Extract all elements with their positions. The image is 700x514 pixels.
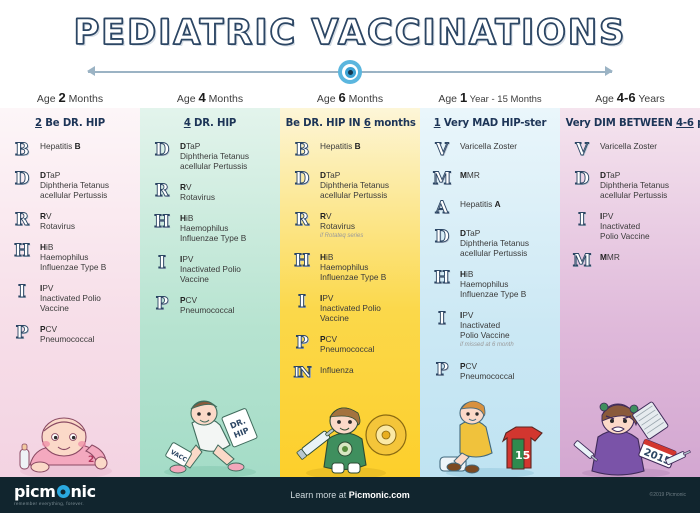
vaccine-name-line: Influenzae Type B — [460, 289, 526, 299]
vaccine-name-line: Hepatitis — [460, 199, 495, 209]
letter-m-icon: M — [570, 252, 594, 270]
letter-b-icon: B — [290, 141, 314, 159]
vaccine-abbr-rest: iB — [186, 213, 193, 223]
letter-r-icon: R — [150, 182, 174, 200]
vaccine-name-line: acellular Pertussis — [40, 190, 107, 200]
vaccine-entry: PPCVPneumococcal — [430, 361, 554, 381]
title-section: PEDIATRIC VACCINATIONS — [0, 0, 700, 58]
vaccine-abbr-rest: PV — [42, 283, 53, 293]
vaccine-name-line: Haemophilus — [320, 262, 368, 272]
age-number: 2 — [59, 90, 66, 105]
vaccine-text: IPVInactivated PolioVaccine — [180, 254, 241, 284]
age-column-2: 4 DR. HIPDDTaPDiphtheria Tetanusacellula… — [140, 108, 280, 477]
age-prefix: Age — [595, 93, 617, 105]
vaccine-name-line: Influenzae Type B — [320, 272, 386, 282]
letter-p-icon: P — [10, 324, 34, 342]
vaccine-text: RVRotavirus — [40, 211, 75, 231]
vaccine-entry: IIPVInactivated PolioVaccine — [290, 293, 414, 323]
vaccine-name-line: Pneumococcal — [180, 305, 234, 315]
age-header-row: Age 2 MonthsAge 4 MonthsAge 6 MonthsAge … — [0, 86, 700, 108]
illustration-2: DR. HIP VACC — [140, 387, 280, 477]
vaccine-text: Varicella Zoster — [460, 141, 517, 151]
mnemonic-heading-5: Very DIM BETWEEN 4-6 pm — [566, 116, 695, 129]
vaccine-name-line: Inactivated Polio — [40, 293, 101, 303]
vaccine-abbr-rest: TaP — [326, 170, 340, 180]
vaccine-abbr-rest: iB — [46, 242, 53, 252]
vaccine-text: DTaPDiphtheria Tetanusacellular Pertussi… — [320, 170, 389, 200]
age-column-3: Be DR. HIP IN 6 monthsBHepatitis BDDTaPD… — [280, 108, 420, 477]
vaccine-abbr-rest: TaP — [46, 170, 60, 180]
timeline-arrow-left-icon — [87, 66, 95, 76]
vaccine-text: RVRotavirusif Rotateq series — [320, 211, 363, 241]
vaccine-name-line: Pneumococcal — [40, 334, 94, 344]
vaccine-name-line: Hepatitis — [320, 141, 355, 151]
letter-v-icon: V — [430, 141, 454, 159]
svg-text:DR.: DR. — [229, 416, 247, 430]
vaccine-entry: HHiBHaemophilusInfluenzae Type B — [430, 269, 554, 299]
mnemonic-heading-3: Be DR. HIP IN 6 months — [286, 116, 415, 129]
age-number: 4-6 — [617, 90, 636, 105]
vaccine-abbr: M — [460, 170, 467, 180]
vaccine-name-line: Rotavirus — [180, 192, 215, 202]
age-column-1: 2 Be DR. HIPBHepatitis BDDTaPDiphtheria … — [0, 108, 140, 477]
vaccine-note: if missed at 6 month — [460, 340, 514, 350]
letter-m-icon: M — [430, 170, 454, 188]
vaccine-name-line: Varicella Zoster — [460, 141, 517, 151]
vaccine-entry: BHepatitis B — [290, 141, 414, 159]
vaccine-list-3: BHepatitis BDDTaPDiphtheria Tetanusacell… — [280, 141, 420, 380]
vaccine-name-line: Diphtheria Tetanus — [460, 238, 529, 248]
age-column-5: Very DIM BETWEEN 4-6 pmVVaricella Zoster… — [560, 108, 700, 477]
age-suffix: Years — [636, 93, 665, 105]
vaccine-text: HiBHaemophilusInfluenzae Type B — [320, 252, 386, 282]
letter-i-icon: I — [150, 254, 174, 272]
footer: picm nic remember everything, forever. L… — [0, 477, 700, 513]
age-prefix: Age — [317, 93, 339, 105]
vaccine-note: if Rotateq series — [320, 231, 363, 241]
vaccine-abbr-rest: MR — [467, 170, 480, 180]
vaccine-text: IPVInactivated PolioVaccine — [40, 283, 101, 313]
vaccine-name-line: acellular Pertussis — [600, 190, 667, 200]
vaccine-abbr-rest: PV — [462, 310, 473, 320]
vaccine-abbr-rest: TaP — [186, 141, 200, 151]
vaccine-text: IPVInactivated PolioVaccine — [320, 293, 381, 323]
vaccine-abbr-rest: PV — [182, 254, 193, 264]
vaccine-abbr-rest: TaP — [606, 170, 620, 180]
illustration-4: 15 — [420, 387, 560, 477]
age-number: 4 — [199, 90, 206, 105]
vaccine-list-5: VVaricella ZosterDDTaPDiphtheria Tetanus… — [560, 141, 700, 270]
vaccine-name-line: Inactivated — [600, 221, 640, 231]
vaccine-name-line: Diphtheria Tetanus — [600, 180, 669, 190]
letter-i-icon: I — [430, 310, 454, 328]
vaccine-name-line: Polio Vaccine — [600, 231, 650, 241]
vaccine-entry: MMMR — [430, 170, 554, 188]
vaccine-name-bold: A — [495, 199, 501, 209]
mnemonic-heading-1: 2 Be DR. HIP — [6, 116, 135, 129]
vaccine-text: Hepatitis A — [460, 199, 501, 209]
letter-h-icon: H — [10, 242, 34, 260]
footer-cta: Learn more at Picmonic.com — [0, 490, 700, 500]
letter-r-icon: R — [10, 211, 34, 229]
timeline-arrow-right-icon — [605, 66, 613, 76]
vaccine-list-2: DDTaPDiphtheria Tetanusacellular Pertuss… — [140, 141, 280, 315]
vaccine-list-4: VVaricella ZosterMMMRAHepatitis ADDTaPDi… — [420, 141, 560, 381]
vaccine-text: HiBHaemophilusInfluenzae Type B — [40, 242, 106, 272]
vaccine-name-line: Polio Vaccine — [460, 330, 510, 340]
vaccine-text: HiBHaemophilusInfluenzae Type B — [460, 269, 526, 299]
vaccine-name-line: Diphtheria Tetanus — [40, 180, 109, 190]
vaccine-name-line: Inactivated Polio — [180, 264, 241, 274]
vaccine-text: PCVPneumococcal — [320, 334, 374, 354]
vaccine-name-line: Haemophilus — [40, 252, 88, 262]
vaccine-name-line: Rotavirus — [320, 221, 355, 231]
vaccine-entry: HHiBHaemophilusInfluenzae Type B — [10, 242, 134, 272]
age-prefix: Age — [438, 93, 460, 105]
illustration-1: 2 — [0, 387, 140, 477]
vaccine-name-line: Diphtheria Tetanus — [180, 151, 249, 161]
age-column-4: 1 Very MAD HIP-sterVVaricella ZosterMMMR… — [420, 108, 560, 477]
vaccine-name-line: acellular Pertussis — [320, 190, 387, 200]
vaccine-text: PCVPneumococcal — [180, 295, 234, 315]
letter-in-icon: IN — [290, 365, 314, 380]
vaccine-entry: VVaricella Zoster — [430, 141, 554, 159]
letter-h-icon: H — [430, 269, 454, 287]
mnemonic-heading-2: 4 DR. HIP — [146, 116, 275, 129]
letter-i-icon: I — [10, 283, 34, 301]
vaccine-entry: IIPVInactivatedPolio Vaccineif missed at… — [430, 310, 554, 350]
copyright: ©2019 Picmonic — [650, 492, 686, 498]
mnemonic-heading-4: 1 Very MAD HIP-ster — [426, 116, 555, 129]
vaccine-text: IPVInactivatedPolio Vaccineif missed at … — [460, 310, 514, 350]
vaccine-entry: RRVRotavirus — [10, 211, 134, 231]
vaccine-abbr-rest: TaP — [466, 228, 480, 238]
vaccine-entry: DDTaPDiphtheria Tetanusacellular Pertuss… — [430, 228, 554, 258]
vaccine-name-line: Vaccine — [180, 274, 209, 284]
svg-text:VACC: VACC — [169, 449, 188, 464]
vaccine-entry: IIPVInactivated PolioVaccine — [10, 283, 134, 313]
vaccine-entry: RRVRotavirus — [150, 182, 274, 202]
vaccine-name-line: Pneumococcal — [320, 344, 374, 354]
footer-cta-pre: Learn more at — [290, 490, 349, 500]
letter-b-icon: B — [10, 141, 34, 159]
vaccine-name-line: Vaccine — [320, 313, 349, 323]
vaccine-abbr-rest: PV — [602, 211, 613, 221]
vaccine-name-line: Varicella Zoster — [600, 141, 657, 151]
vaccine-text: Hepatitis B — [40, 141, 81, 151]
age-columns: 2 Be DR. HIPBHepatitis BDDTaPDiphtheria … — [0, 108, 700, 477]
vaccine-name-line: Influenzae Type B — [180, 233, 246, 243]
vaccine-name-line: Pneumococcal — [460, 371, 514, 381]
timeline — [88, 58, 612, 86]
vaccine-text: PCVPneumococcal — [40, 324, 94, 344]
letter-p-icon: P — [430, 361, 454, 379]
vaccine-text: IPVInactivatedPolio Vaccine — [600, 211, 650, 241]
age-number: 6 — [339, 90, 346, 105]
age-label-3: Age 6 Months — [280, 90, 420, 105]
vaccine-text: Hepatitis B — [320, 141, 361, 151]
svg-text:2: 2 — [88, 455, 94, 465]
vaccine-list-1: BHepatitis BDDTaPDiphtheria Tetanusacell… — [0, 141, 140, 344]
letter-r-icon: R — [290, 211, 314, 229]
vaccine-text: PCVPneumococcal — [460, 361, 514, 381]
letter-h-icon: H — [290, 252, 314, 270]
vaccine-abbr-rest: MR — [607, 252, 620, 262]
svg-text:HIP: HIP — [232, 426, 250, 440]
vaccine-name-line: Vaccine — [40, 303, 69, 313]
vaccine-text: DTaPDiphtheria Tetanusacellular Pertussi… — [180, 141, 249, 171]
vaccine-name-line: Influenza — [320, 365, 354, 375]
vaccine-entry: BHepatitis B — [10, 141, 134, 159]
vaccine-text: Varicella Zoster — [600, 141, 657, 151]
letter-d-icon: D — [290, 170, 314, 188]
vaccine-name-line: Haemophilus — [460, 279, 508, 289]
vaccine-text: RVRotavirus — [180, 182, 215, 202]
vaccine-entry: HHiBHaemophilusInfluenzae Type B — [290, 252, 414, 282]
age-suffix: Months — [206, 93, 243, 105]
vaccine-entry: IIPVInactivatedPolio Vaccine — [570, 211, 694, 241]
vaccine-entry: AHepatitis A — [430, 199, 554, 217]
age-prefix: Age — [37, 93, 59, 105]
vaccine-abbr-rest: iB — [326, 252, 333, 262]
age-label-1: Age 2 Months — [0, 90, 140, 105]
age-prefix: Age — [177, 93, 199, 105]
logo-tagline: remember everything, forever. — [14, 502, 96, 507]
vaccine-entry: DDTaPDiphtheria Tetanusacellular Pertuss… — [290, 170, 414, 200]
vaccine-entry: PPCVPneumococcal — [150, 295, 274, 315]
letter-p-icon: P — [290, 334, 314, 352]
vaccine-entry: DDTaPDiphtheria Tetanusacellular Pertuss… — [150, 141, 274, 171]
vaccine-abbr-rest: V — [46, 211, 52, 221]
vaccine-entry: PPCVPneumococcal — [290, 334, 414, 354]
page-title: PEDIATRIC VACCINATIONS — [74, 13, 627, 53]
illustration-3 — [280, 387, 420, 477]
vaccine-text: DTaPDiphtheria Tetanusacellular Pertussi… — [40, 170, 109, 200]
vaccine-name-line: Rotavirus — [40, 221, 75, 231]
infographic-poster: PEDIATRIC VACCINATIONS Age 2 MonthsAge 4… — [0, 0, 700, 514]
vaccine-abbr-rest: CV — [46, 324, 58, 334]
age-label-4: Age 1 Year - 15 Months — [420, 90, 560, 105]
vaccine-abbr-rest: CV — [326, 334, 338, 344]
footer-cta-brand[interactable]: Picmonic.com — [349, 490, 410, 500]
vaccine-abbr-rest: iB — [466, 269, 473, 279]
vaccine-entry: VVaricella Zoster — [570, 141, 694, 159]
age-suffix: Year - 15 Months — [467, 94, 541, 105]
vaccine-name-line: Diphtheria Tetanus — [320, 180, 389, 190]
vaccine-name-line: acellular Pertussis — [460, 248, 527, 258]
letter-d-icon: D — [430, 228, 454, 246]
age-suffix: Months — [346, 93, 383, 105]
vaccine-abbr-rest: CV — [186, 295, 198, 305]
vaccine-abbr-rest: V — [186, 182, 192, 192]
vaccine-entry: HHiBHaemophilusInfluenzae Type B — [150, 213, 274, 243]
vaccine-text: HiBHaemophilusInfluenzae Type B — [180, 213, 246, 243]
target-icon — [338, 60, 362, 84]
letter-a-icon: A — [430, 199, 454, 217]
vaccine-text: MMR — [600, 252, 620, 262]
vaccine-entry: DDTaPDiphtheria Tetanusacellular Pertuss… — [570, 170, 694, 200]
vaccine-name-bold: B — [75, 141, 81, 151]
vaccine-abbr-rest: PV — [322, 293, 333, 303]
vaccine-name-line: Hepatitis — [40, 141, 75, 151]
vaccine-abbr: M — [600, 252, 607, 262]
vaccine-abbr-rest: CV — [466, 361, 478, 371]
age-label-2: Age 4 Months — [140, 90, 280, 105]
vaccine-name-line: Influenzae Type B — [40, 262, 106, 272]
vaccine-text: DTaPDiphtheria Tetanusacellular Pertussi… — [600, 170, 669, 200]
letter-d-icon: D — [10, 170, 34, 188]
svg-text:2015: 2015 — [642, 447, 672, 468]
vaccine-entry: MMMR — [570, 252, 694, 270]
vaccine-entry: IIPVInactivated PolioVaccine — [150, 254, 274, 284]
letter-v-icon: V — [570, 141, 594, 159]
letter-i-icon: I — [290, 293, 314, 311]
illustration-5: 2015 — [560, 387, 700, 477]
vaccine-name-line: acellular Pertussis — [180, 161, 247, 171]
letter-p-icon: P — [150, 295, 174, 313]
vaccine-abbr-rest: V — [326, 211, 332, 221]
letter-h-icon: H — [150, 213, 174, 231]
vaccine-name-line: Inactivated — [460, 320, 500, 330]
vaccine-name-line: Inactivated Polio — [320, 303, 381, 313]
vaccine-entry: DDTaPDiphtheria Tetanusacellular Pertuss… — [10, 170, 134, 200]
age-label-5: Age 4-6 Years — [560, 90, 700, 105]
letter-d-icon: D — [570, 170, 594, 188]
letter-d-icon: D — [150, 141, 174, 159]
letter-i-icon: I — [570, 211, 594, 229]
age-suffix: Months — [66, 93, 103, 105]
vaccine-entry: INInfluenza — [290, 365, 414, 380]
vaccine-text: Influenza — [320, 365, 354, 375]
vaccine-entry: RRVRotavirusif Rotateq series — [290, 211, 414, 241]
vaccine-text: DTaPDiphtheria Tetanusacellular Pertussi… — [460, 228, 529, 258]
vaccine-name-bold: B — [355, 141, 361, 151]
vaccine-entry: PPCVPneumococcal — [10, 324, 134, 344]
vaccine-text: MMR — [460, 170, 480, 180]
svg-text:15: 15 — [515, 449, 530, 462]
vaccine-name-line: Haemophilus — [180, 223, 228, 233]
